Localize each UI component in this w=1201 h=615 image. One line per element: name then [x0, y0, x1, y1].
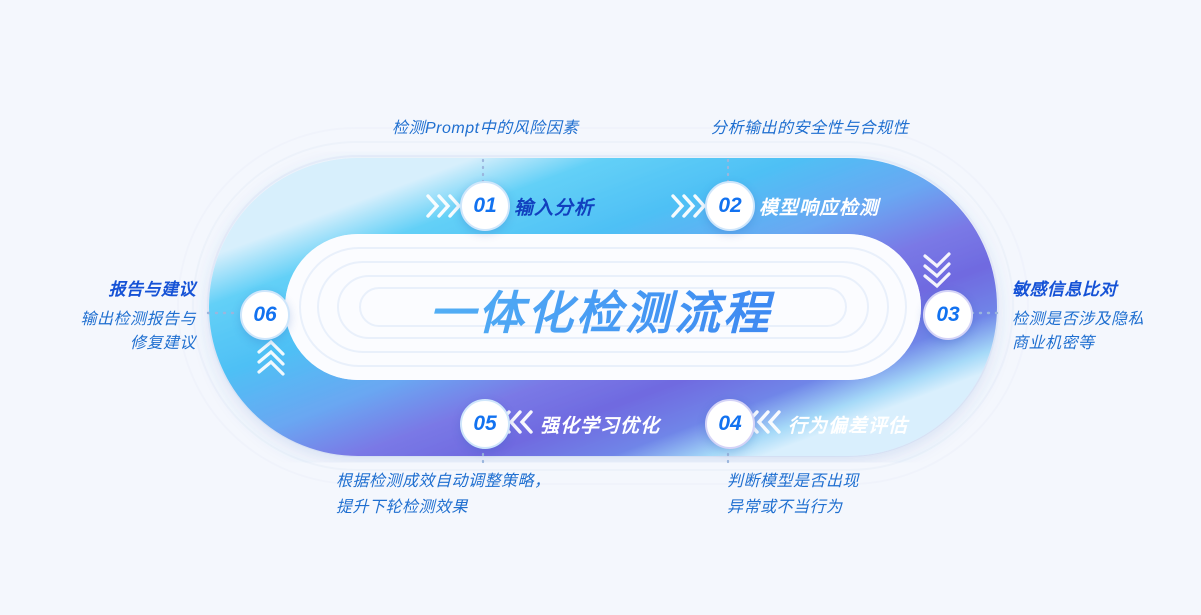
step-badge-06[interactable]: 06	[240, 290, 290, 340]
step-badge-01[interactable]: 01	[460, 181, 510, 231]
step-badge-03-number: 03	[936, 303, 959, 327]
callout-03-line2: 商业机密等	[1012, 333, 1095, 354]
step-label-05[interactable]: 强化学习优化	[540, 411, 660, 438]
step-badge-04[interactable]: 04	[705, 399, 755, 449]
step-label-04[interactable]: 行为偏差评估	[788, 411, 908, 438]
step-badge-06-number: 06	[253, 303, 276, 327]
step-badge-04-number: 04	[718, 412, 741, 436]
callout-05-line1: 根据检测成效自动调整策略，	[336, 471, 551, 492]
step-badge-03[interactable]: 03	[923, 290, 973, 340]
callout-05-line2: 提升下轮检测效果	[336, 497, 468, 518]
callout-04-line1: 判断模型是否出现	[727, 471, 859, 492]
step-badge-05-number: 05	[473, 412, 496, 436]
callout-01-body: 检测Prompt中的风险因素	[392, 118, 579, 139]
step-label-01[interactable]: 输入分析	[514, 193, 594, 220]
callout-03-title: 敏感信息比对	[1012, 279, 1117, 301]
callout-04-line2: 异常或不当行为	[727, 497, 843, 518]
callout-06-title: 报告与建议	[0, 279, 196, 301]
step-label-02[interactable]: 模型响应检测	[759, 193, 879, 220]
step-badge-02[interactable]: 02	[705, 181, 755, 231]
callout-02-body: 分析输出的安全性与合规性	[711, 118, 909, 139]
callout-03-line1: 检测是否涉及隐私	[1012, 309, 1144, 330]
step-badge-02-number: 02	[718, 194, 741, 218]
step-badge-05[interactable]: 05	[460, 399, 510, 449]
step-badge-01-number: 01	[473, 194, 496, 218]
callout-06-line1: 输出检测报告与	[0, 309, 196, 330]
callout-06-line2: 修复建议	[0, 333, 196, 354]
infographic-canvas: 一体化检测流程 01 02 03 04 05 06 输入分析 模型响应检测 强化…	[0, 0, 1201, 615]
